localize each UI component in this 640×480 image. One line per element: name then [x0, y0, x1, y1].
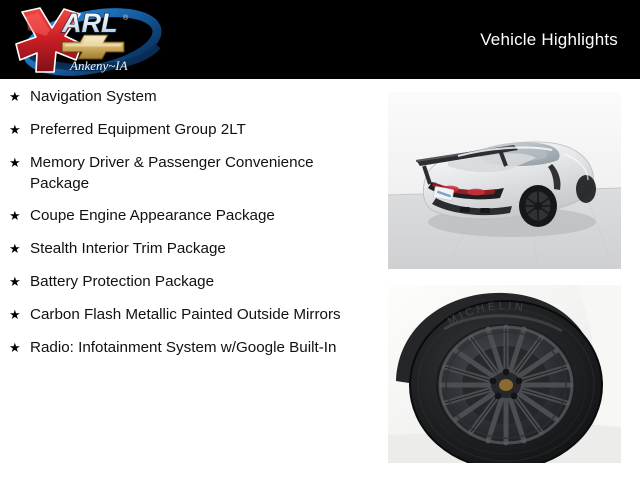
logo-location-text: Ankeny~IA: [69, 58, 128, 73]
vehicle-photo-rear-quarter[interactable]: [388, 92, 621, 269]
feature-label: Coupe Engine Appearance Package: [30, 205, 372, 226]
feature-label: Radio: Infotainment System w/Google Buil…: [30, 337, 372, 358]
list-item: ★ Memory Driver & Passenger Convenience …: [0, 152, 372, 194]
star-bullet-icon: ★: [9, 86, 30, 108]
list-item: ★ Navigation System: [0, 86, 372, 108]
svg-text:®: ®: [123, 14, 129, 22]
star-bullet-icon: ★: [9, 152, 30, 174]
vehicle-photo-wheel-closeup[interactable]: MICHELIN: [388, 285, 621, 463]
svg-text:ARL: ARL: [61, 8, 118, 38]
feature-label: Preferred Equipment Group 2LT: [30, 119, 372, 140]
karl-chevrolet-logo-icon: ARL ® Ankeny~IA: [12, 2, 172, 78]
list-item: ★ Carbon Flash Metallic Painted Outside …: [0, 304, 372, 326]
feature-label: Memory Driver & Passenger Convenience Pa…: [30, 152, 372, 194]
star-bullet-icon: ★: [9, 205, 30, 227]
feature-label: Carbon Flash Metallic Painted Outside Mi…: [30, 304, 372, 325]
list-item: ★ Preferred Equipment Group 2LT: [0, 119, 372, 141]
star-bullet-icon: ★: [9, 238, 30, 260]
star-bullet-icon: ★: [9, 337, 30, 359]
header-bar: ARL ® Ankeny~IA Vehicle Highlights: [0, 0, 640, 79]
feature-label: Battery Protection Package: [30, 271, 372, 292]
list-item: ★ Radio: Infotainment System w/Google Bu…: [0, 337, 372, 359]
star-bullet-icon: ★: [9, 271, 30, 293]
star-bullet-icon: ★: [9, 119, 30, 141]
dealer-logo: ARL ® Ankeny~IA: [12, 2, 172, 78]
feature-label: Stealth Interior Trim Package: [30, 238, 372, 259]
list-item: ★ Coupe Engine Appearance Package: [0, 205, 372, 227]
page-title: Vehicle Highlights: [480, 30, 618, 50]
list-item: ★ Battery Protection Package: [0, 271, 372, 293]
list-item: ★ Stealth Interior Trim Package: [0, 238, 372, 260]
feature-label: Navigation System: [30, 86, 372, 107]
vehicle-features-list: ★ Navigation System ★ Preferred Equipmen…: [0, 86, 372, 370]
star-bullet-icon: ★: [9, 304, 30, 326]
vehicle-highlights-slide: ARL ® Ankeny~IA Vehicle Highlights ★ Nav…: [0, 0, 640, 480]
